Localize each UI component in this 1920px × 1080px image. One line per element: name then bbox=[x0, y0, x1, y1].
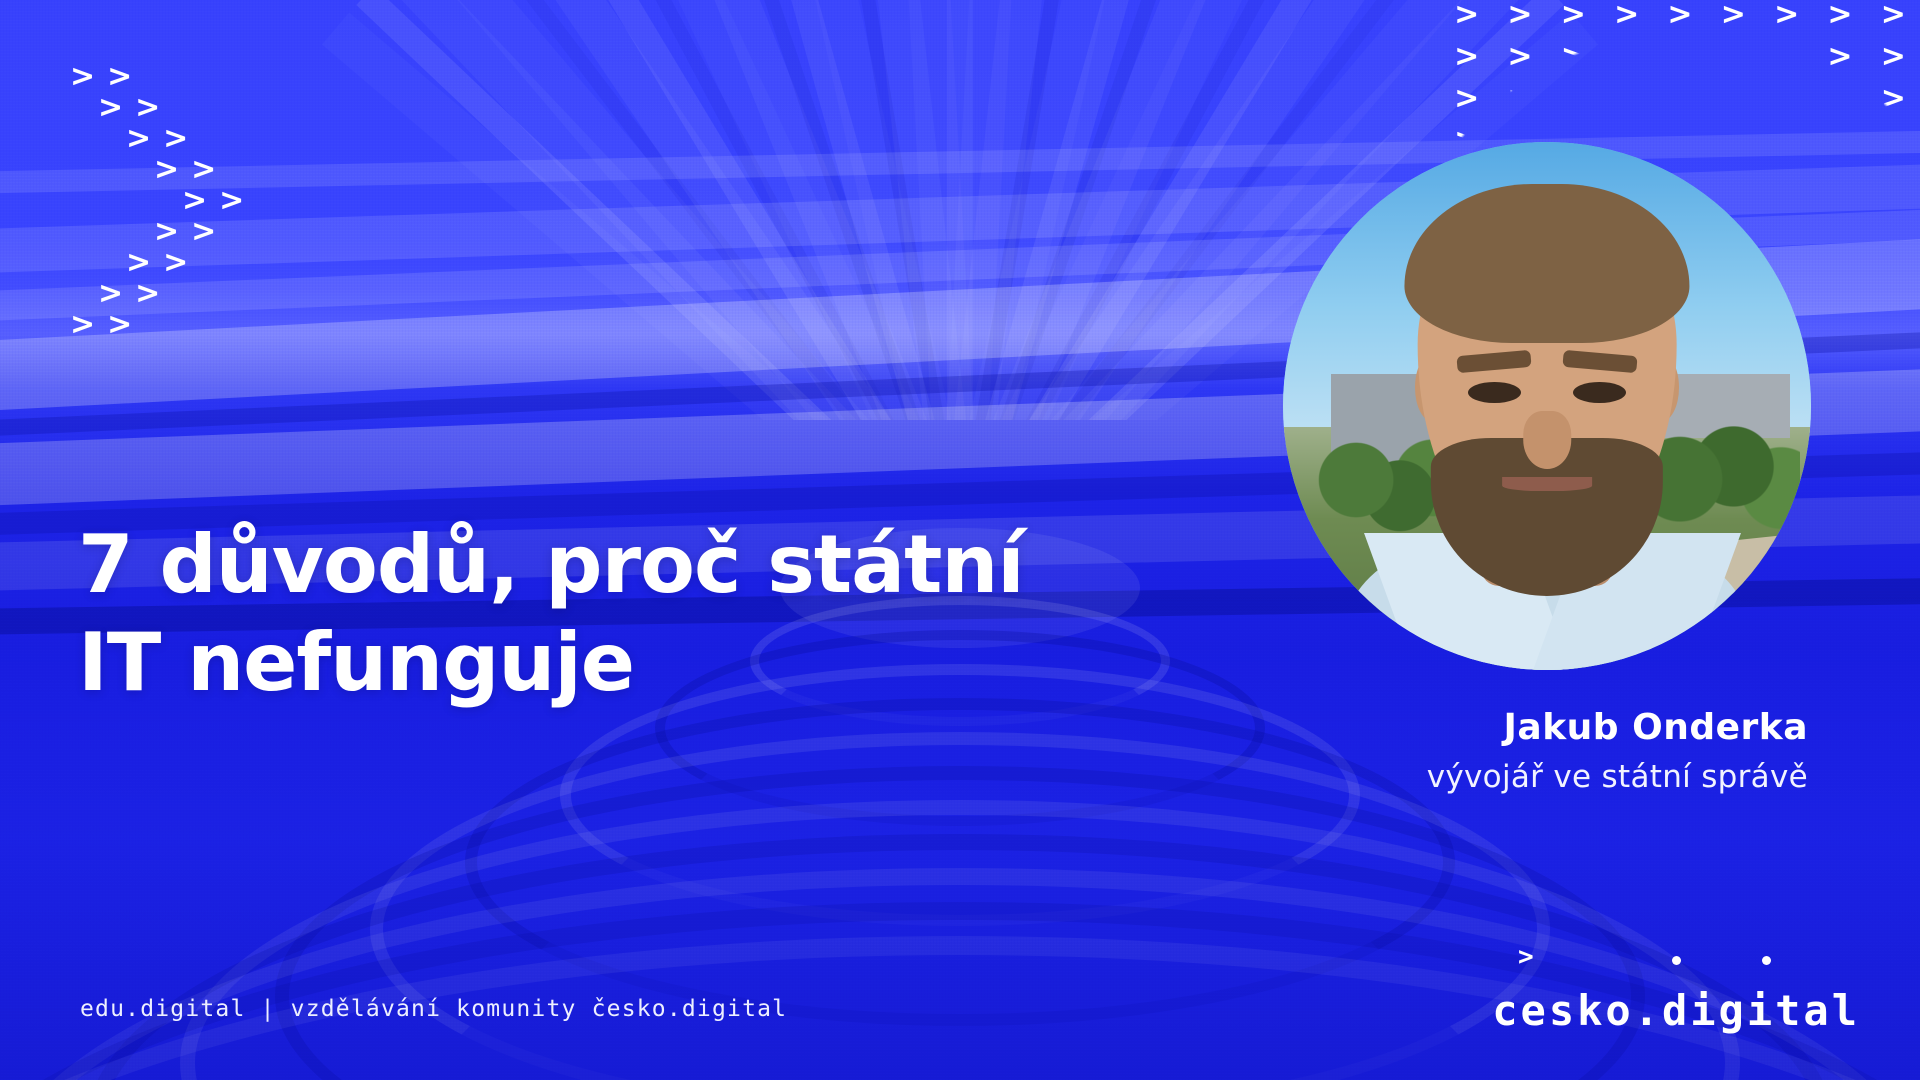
brand-dot-1-icon bbox=[1672, 956, 1681, 965]
speaker-avatar bbox=[1283, 142, 1811, 670]
brand-chevron-icon: > bbox=[1518, 944, 1534, 970]
footer-note: edu.digital | vzdělávání komunity česko.… bbox=[80, 996, 787, 1022]
speaker-name: Jakub Onderka bbox=[1427, 706, 1808, 749]
poster-canvas: >>>>>>>>>>>>>>>>>>>>>>>>>>>>>>>>>>>>>>>>… bbox=[0, 0, 1920, 1080]
brand-dot-2-icon bbox=[1762, 956, 1771, 965]
brand-wordmark: cesko.digital bbox=[1492, 990, 1860, 1032]
brand-lockup: > cesko.digital bbox=[1500, 930, 1860, 1040]
speaker-credit: Jakub Onderka vývojář ve státní správě bbox=[1427, 706, 1808, 796]
avatar-mouth bbox=[1502, 477, 1592, 491]
page-title: 7 důvodů, proč státní IT nefunguje bbox=[78, 516, 1024, 711]
avatar-trees-right bbox=[1642, 422, 1800, 549]
avatar-nose bbox=[1523, 411, 1571, 469]
speaker-role: vývojář ve státní správě bbox=[1427, 759, 1808, 796]
